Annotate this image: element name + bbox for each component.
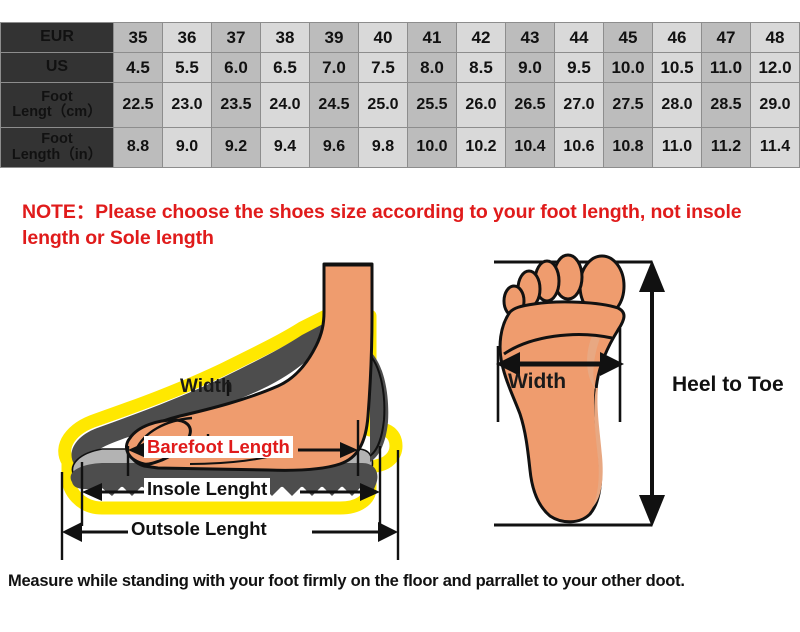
table-cell-foot_length_cm-47: 28.5 <box>702 83 751 128</box>
table-cell-foot_length_in-43: 10.4 <box>506 128 555 168</box>
table-cell-foot_length_in-45: 10.8 <box>604 128 653 168</box>
table-cell-eur-44: 44 <box>555 23 604 53</box>
table-cell-eur-39: 39 <box>310 23 359 53</box>
row-label-us: US <box>1 53 114 83</box>
table-cell-us-38: 6.5 <box>261 53 310 83</box>
table-cell-foot_length_in-46: 11.0 <box>653 128 702 168</box>
table-cell-foot_length_cm-46: 28.0 <box>653 83 702 128</box>
table-cell-foot_length_cm-36: 23.0 <box>163 83 212 128</box>
table-cell-us-41: 8.0 <box>408 53 457 83</box>
table-cell-us-44: 9.5 <box>555 53 604 83</box>
table-row-eur: EUR 3536373839404142434445464748 <box>1 23 800 53</box>
sole-width-label: Width <box>508 370 566 394</box>
table-cell-foot_length_in-47: 11.2 <box>702 128 751 168</box>
row-label-in-line2: Length（in） <box>12 147 102 163</box>
table-cell-foot_length_cm-43: 26.5 <box>506 83 555 128</box>
table-cell-foot_length_in-42: 10.2 <box>457 128 506 168</box>
table-row-us: US 4.55.56.06.57.07.58.08.59.09.510.010.… <box>1 53 800 83</box>
table-cell-foot_length_cm-48: 29.0 <box>751 83 800 128</box>
row-label-foot-length-in: Foot Length（in） <box>1 128 114 168</box>
table-cell-foot_length_in-48: 11.4 <box>751 128 800 168</box>
row-label-eur: EUR <box>1 23 114 53</box>
table-cell-us-43: 9.0 <box>506 53 555 83</box>
table-cell-foot_length_in-40: 9.8 <box>359 128 408 168</box>
table-cell-foot_length_cm-45: 27.5 <box>604 83 653 128</box>
table-cell-eur-45: 45 <box>604 23 653 53</box>
heel-to-toe-dimension <box>639 260 665 527</box>
table-cell-us-47: 11.0 <box>702 53 751 83</box>
table-cell-eur-41: 41 <box>408 23 457 53</box>
table-cell-eur-36: 36 <box>163 23 212 53</box>
table-cell-eur-42: 42 <box>457 23 506 53</box>
table-cell-us-39: 7.0 <box>310 53 359 83</box>
table-cell-us-46: 10.5 <box>653 53 702 83</box>
note-text: NOTE：Please choose the shoes size accord… <box>22 200 784 252</box>
side-view-width-label: Width <box>180 376 233 398</box>
table-cell-eur-47: 47 <box>702 23 751 53</box>
table-cell-eur-48: 48 <box>751 23 800 53</box>
table-cell-foot_length_in-37: 9.2 <box>212 128 261 168</box>
insole-length-label: Insole Lenght <box>144 478 270 500</box>
table-cell-foot_length_cm-39: 24.5 <box>310 83 359 128</box>
row-label-cm-line2: Lengt（cm） <box>12 104 101 120</box>
table-cell-eur-46: 46 <box>653 23 702 53</box>
table-cell-foot_length_in-35: 8.8 <box>114 128 163 168</box>
table-cell-foot_length_cm-38: 24.0 <box>261 83 310 128</box>
row-label-cm-line1: Foot <box>41 89 72 105</box>
outsole-length-label: Outsole Lenght <box>128 518 270 540</box>
table-cell-us-42: 8.5 <box>457 53 506 83</box>
table-cell-us-48: 12.0 <box>751 53 800 83</box>
table-row-foot-length-cm: Foot Lengt（cm） 22.523.023.524.024.525.02… <box>1 83 800 128</box>
row-label-foot-length-cm: Foot Lengt（cm） <box>1 83 114 128</box>
table-cell-eur-37: 37 <box>212 23 261 53</box>
table-cell-foot_length_cm-40: 25.0 <box>359 83 408 128</box>
table-cell-foot_length_cm-41: 25.5 <box>408 83 457 128</box>
table-cell-foot_length_in-36: 9.0 <box>163 128 212 168</box>
table-cell-eur-43: 43 <box>506 23 555 53</box>
table-row-foot-length-in: Foot Length（in） 8.89.09.29.49.69.810.010… <box>1 128 800 168</box>
row-label-in-line1: Foot <box>41 131 72 147</box>
table-cell-foot_length_cm-35: 22.5 <box>114 83 163 128</box>
side-view-diagram: Width Barefoot Length Insole Lenght Outs… <box>40 250 460 573</box>
table-cell-us-40: 7.5 <box>359 53 408 83</box>
table-cell-us-45: 10.0 <box>604 53 653 83</box>
table-cell-eur-40: 40 <box>359 23 408 53</box>
table-cell-foot_length_cm-44: 27.0 <box>555 83 604 128</box>
footer-note: Measure while standing with your foot fi… <box>8 572 798 591</box>
table-cell-us-37: 6.0 <box>212 53 261 83</box>
size-chart-table-container: EUR 3536373839404142434445464748 US 4.55… <box>0 22 800 168</box>
table-cell-eur-38: 38 <box>261 23 310 53</box>
sole-view-diagram: Width Heel to Toe <box>480 250 780 545</box>
size-chart-table: EUR 3536373839404142434445464748 US 4.55… <box>0 22 800 168</box>
diagram-area: Width Barefoot Length Insole Lenght Outs… <box>0 250 800 568</box>
table-cell-foot_length_in-39: 9.6 <box>310 128 359 168</box>
table-cell-foot_length_cm-42: 26.0 <box>457 83 506 128</box>
heel-to-toe-label: Heel to Toe <box>670 372 786 398</box>
table-cell-foot_length_in-38: 9.4 <box>261 128 310 168</box>
table-cell-foot_length_in-41: 10.0 <box>408 128 457 168</box>
table-cell-foot_length_in-44: 10.6 <box>555 128 604 168</box>
table-cell-foot_length_cm-37: 23.5 <box>212 83 261 128</box>
table-cell-us-36: 5.5 <box>163 53 212 83</box>
barefoot-length-label: Barefoot Length <box>144 436 293 458</box>
table-cell-eur-35: 35 <box>114 23 163 53</box>
table-cell-us-35: 4.5 <box>114 53 163 83</box>
